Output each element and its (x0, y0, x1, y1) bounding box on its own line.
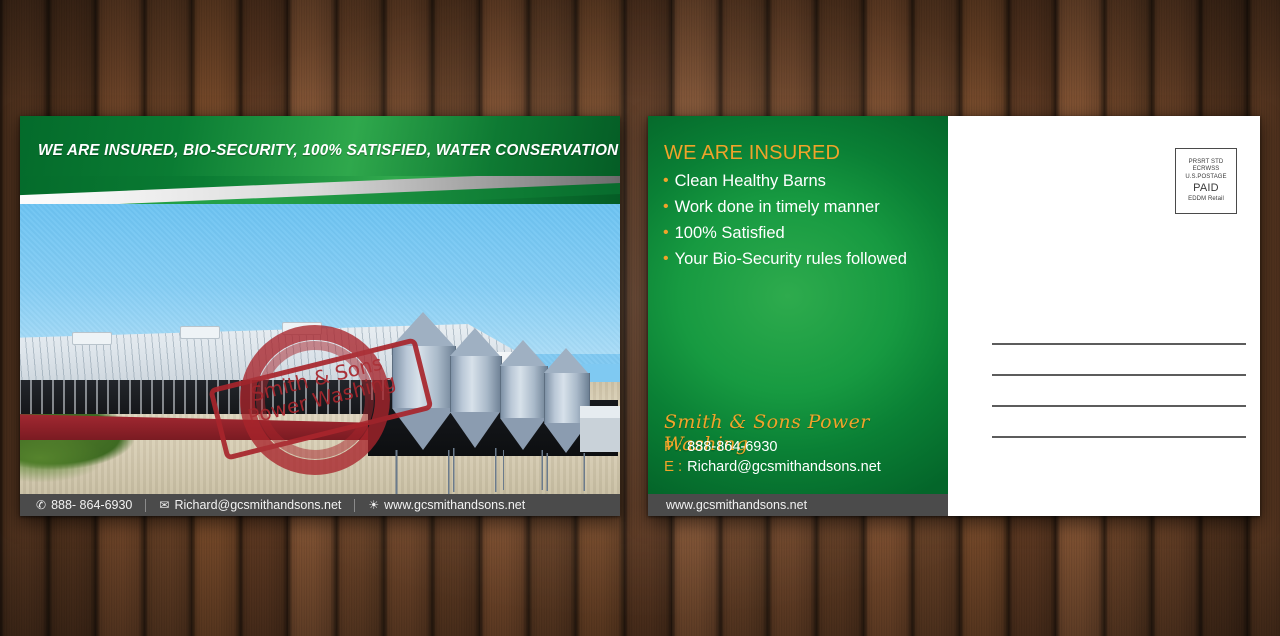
back-website-bar: www.gcsmithandsons.net (648, 494, 948, 516)
phone-row: P : 888-864-6930 (664, 438, 944, 455)
phone-label: P (664, 438, 673, 455)
roof-vent (72, 332, 112, 345)
list-item-label: Clean Healthy Barns (675, 172, 826, 190)
silo-hopper (450, 412, 500, 448)
indicia-line-3: U.S.POSTAGE (1185, 174, 1226, 181)
address-line[interactable] (992, 405, 1246, 407)
silo-legs (450, 448, 500, 492)
list-item: • 100% Satisfied (663, 224, 948, 242)
bullet-dot-icon: • (663, 224, 669, 241)
indicia-line-1: PRSRT STD (1189, 159, 1224, 166)
bullet-dot-icon: • (663, 250, 669, 267)
grain-silo (500, 340, 548, 450)
front-contact-bar: ✆ 888- 864-6930 ✉ Richard@gcsmithandsons… (20, 494, 620, 516)
small-shed (580, 406, 620, 452)
silo-legs (500, 450, 546, 490)
silo-cone (500, 340, 546, 366)
divider (354, 499, 355, 512)
list-item-label: Your Bio-Security rules followed (675, 250, 907, 268)
divider (145, 499, 146, 512)
list-item-label: 100% Satisfied (675, 224, 785, 242)
email-row: E : Richard@gcsmithandsons.net (664, 458, 944, 475)
phone-icon: ✆ (36, 499, 46, 511)
grass-patch-secondary (20, 440, 130, 494)
list-item-label: Work done in timely manner (675, 198, 880, 216)
bullet-dot-icon: • (663, 172, 669, 189)
silo-cone (450, 328, 500, 356)
phone-value: 888-864-6930 (687, 439, 777, 455)
silo-body (450, 356, 502, 412)
globe-icon: ☀ (368, 499, 379, 511)
address-line[interactable] (992, 343, 1246, 345)
list-item: • Your Bio-Security rules followed (663, 250, 948, 268)
indicia-paid-label: PAID (1193, 182, 1219, 195)
front-phone-text: 888- 864-6930 (51, 498, 132, 512)
envelope-icon: ✉ (159, 499, 169, 511)
front-email-text: Richard@gcsmithandsons.net (174, 498, 341, 512)
back-contact-block: P : 888-864-6930 E : Richard@gcsmithands… (664, 438, 944, 478)
front-website-item[interactable]: ☀ www.gcsmithandsons.net (368, 498, 525, 512)
postcard-front[interactable]: WE ARE INSURED, BIO-SECURITY, 100% SATIS… (20, 116, 620, 516)
front-headline: WE ARE INSURED, BIO-SECURITY, 100% SATIS… (38, 142, 599, 160)
silo-hopper (500, 418, 546, 450)
address-line[interactable] (992, 436, 1246, 438)
bullet-dot-icon: • (663, 198, 669, 215)
front-email-item[interactable]: ✉ Richard@gcsmithandsons.net (159, 498, 341, 512)
email-value: Richard@gcsmithandsons.net (687, 459, 881, 475)
farm-photo: Smith & Sons Power Washing (20, 204, 620, 494)
indicia-line-5: EDDM Retail (1188, 196, 1224, 203)
silo-cone (544, 348, 588, 373)
email-colon: : (678, 458, 682, 475)
postcard-back[interactable]: WE ARE INSURED • Clean Healthy Barns • W… (648, 116, 1260, 516)
silo-body (500, 366, 548, 418)
indicia-line-2: ECRWSS (1193, 166, 1220, 173)
front-phone-item[interactable]: ✆ 888- 864-6930 (36, 498, 132, 512)
grain-silo (450, 328, 502, 448)
address-line[interactable] (992, 374, 1246, 376)
list-item: • Clean Healthy Barns (663, 172, 948, 190)
front-website-text: www.gcsmithandsons.net (384, 498, 525, 512)
benefits-list: • Clean Healthy Barns • Work done in tim… (663, 172, 948, 276)
phone-colon: : (678, 438, 682, 455)
list-item: • Work done in timely manner (663, 198, 948, 216)
email-label: E (664, 458, 673, 475)
silo-legs (544, 453, 588, 491)
postage-indicia: PRSRT STD ECRWSS U.S.POSTAGE PAID EDDM R… (1175, 148, 1237, 214)
back-title: WE ARE INSURED (664, 142, 934, 165)
back-website-text: www.gcsmithandsons.net (666, 498, 807, 512)
